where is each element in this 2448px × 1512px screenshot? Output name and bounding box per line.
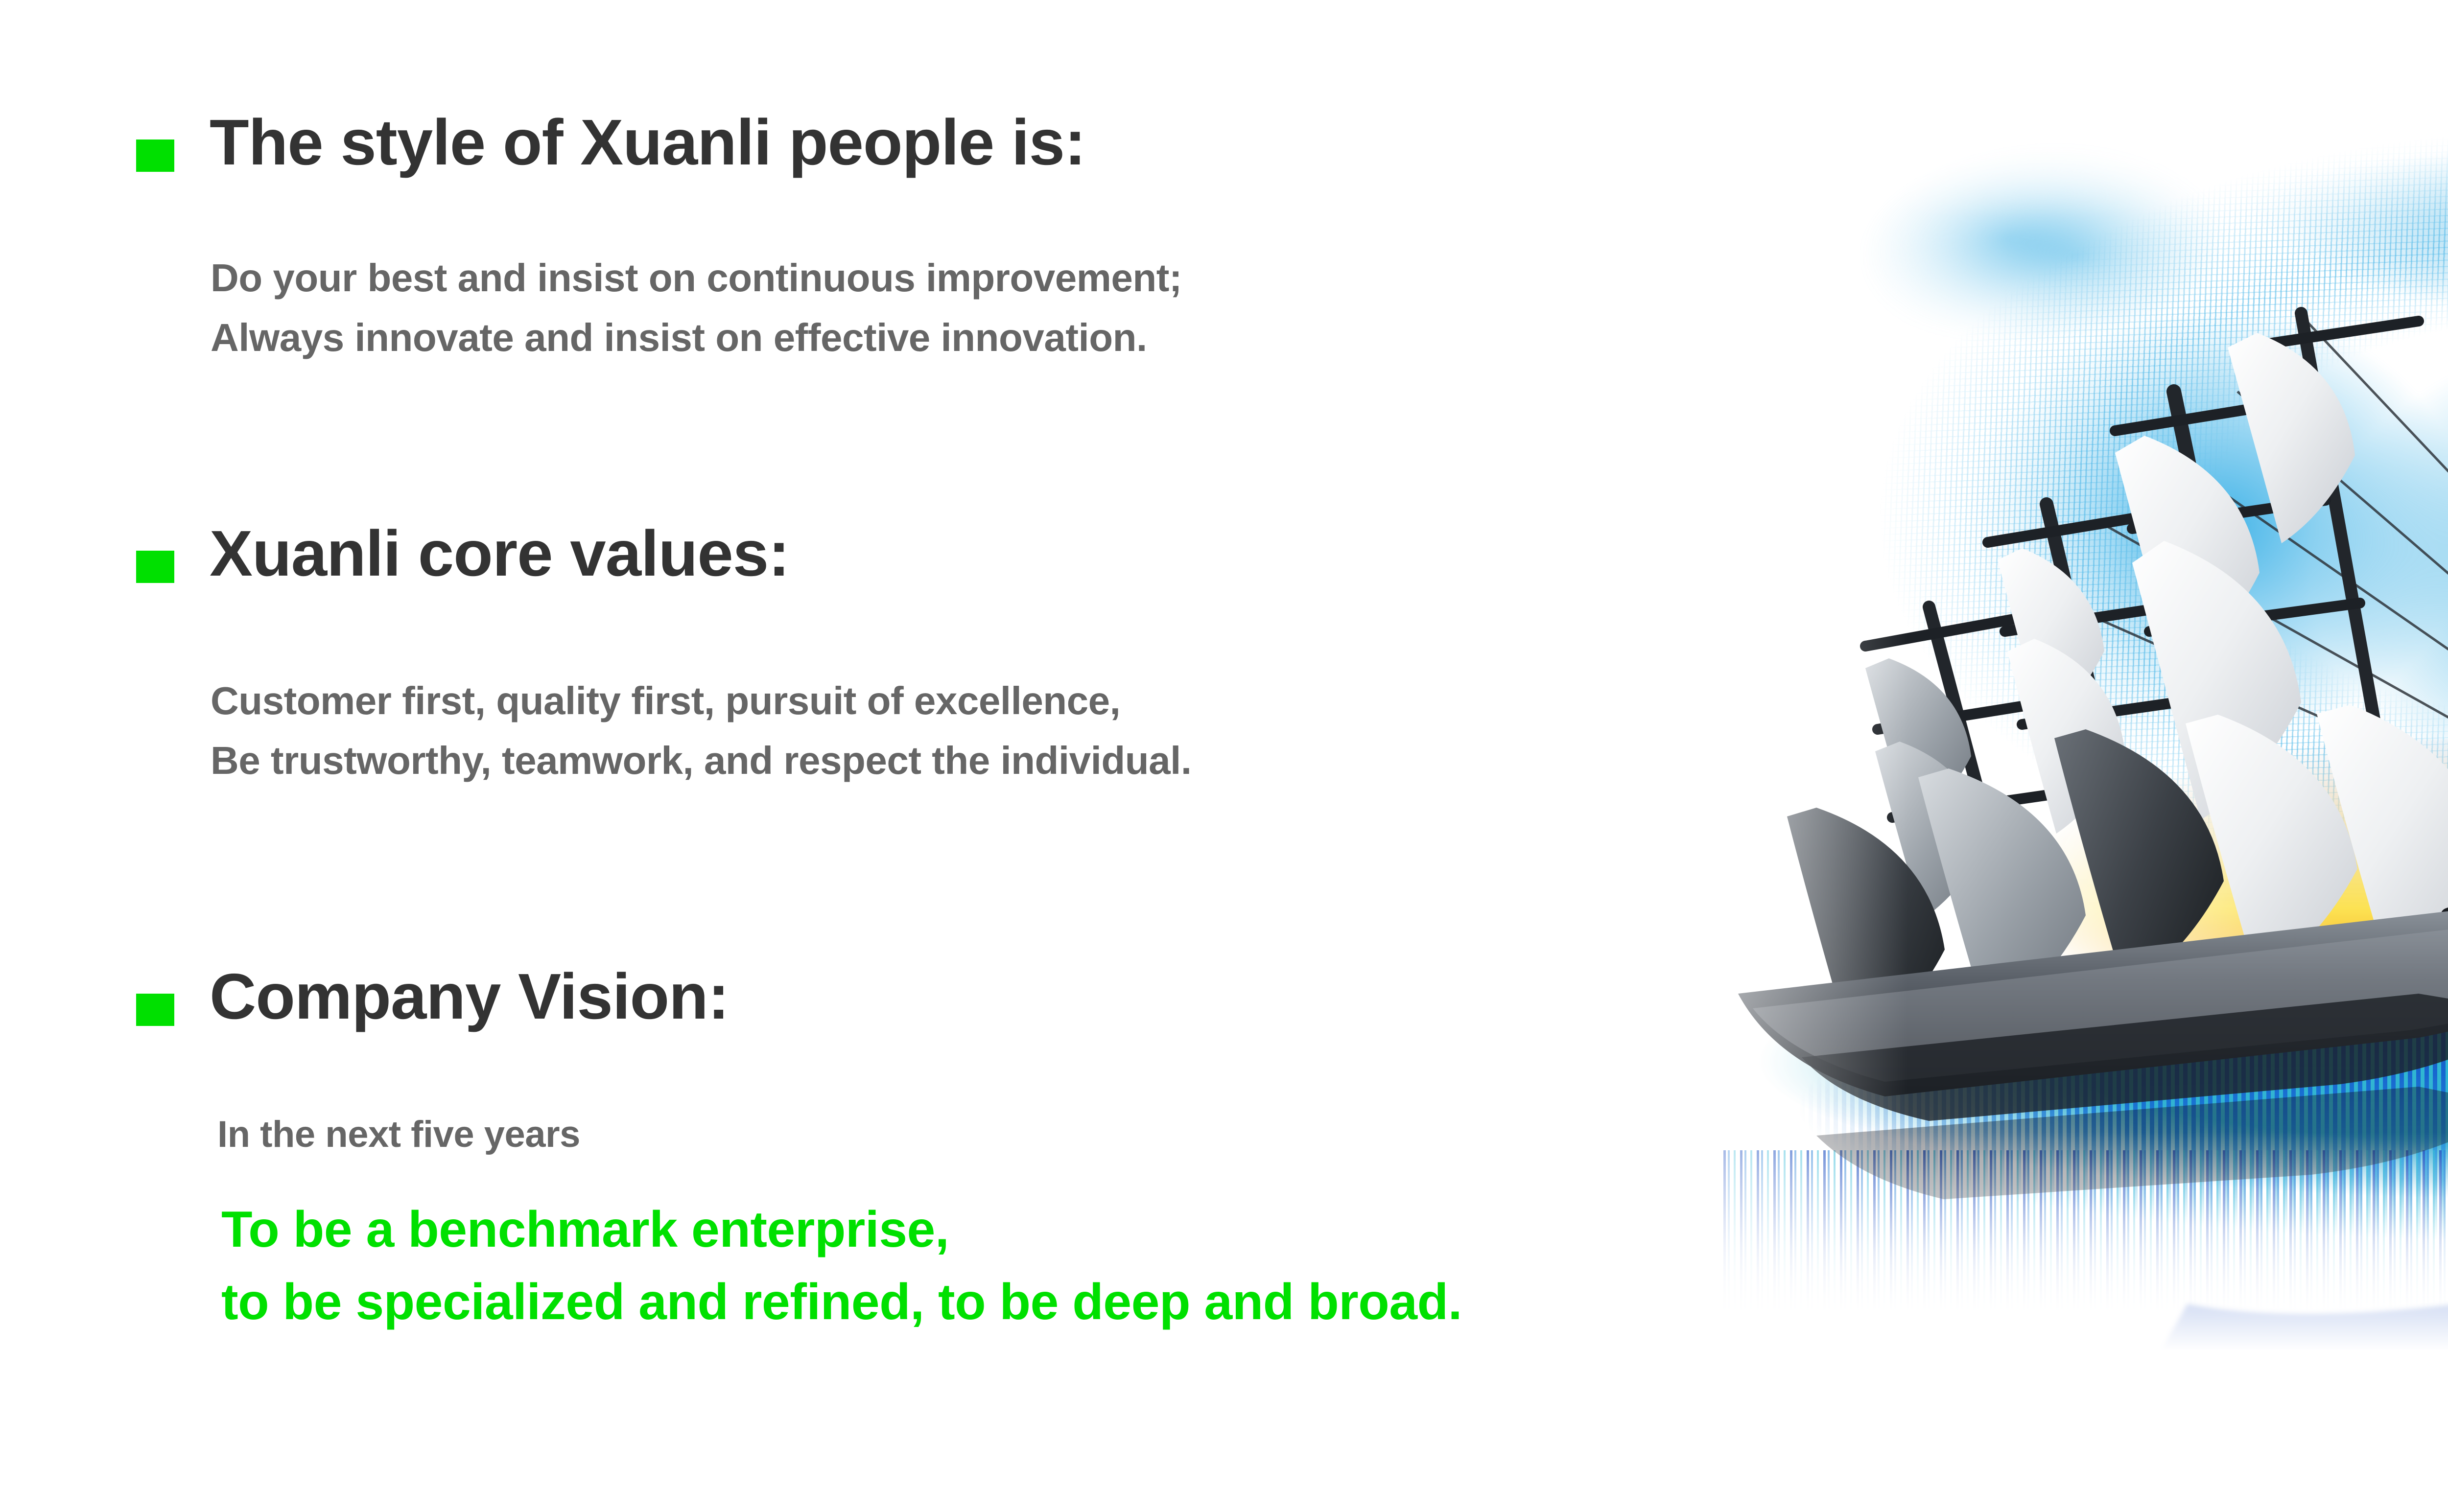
green-square-bullet-icon: [136, 551, 174, 583]
section-heading: Xuanli core values:: [210, 521, 789, 586]
section-heading: Company Vision:: [210, 964, 729, 1029]
section-body-line: Do your best and insist on continuous im…: [211, 258, 1182, 298]
green-square-bullet-icon: [136, 140, 174, 172]
green-square-bullet-icon: [136, 994, 174, 1026]
section-body-line: Always innovate and insist on effective …: [211, 318, 1147, 357]
vision-highlight-line: to be specialized and refined, to be dee…: [221, 1277, 1462, 1327]
section-body-line: In the next five years: [217, 1116, 580, 1153]
text-column: The style of Xuanli people is: Do your b…: [0, 0, 1665, 1512]
section-heading: The style of Xuanli people is:: [210, 110, 1085, 175]
vision-highlight-line: To be a benchmark enterprise,: [221, 1204, 949, 1255]
artwork-edge-fade: [1606, 64, 2448, 1351]
section-body-line: Customer first, quality first, pursuit o…: [211, 681, 1120, 721]
section-body-line: Be trustworthy, teamwork, and respect th…: [211, 741, 1192, 780]
